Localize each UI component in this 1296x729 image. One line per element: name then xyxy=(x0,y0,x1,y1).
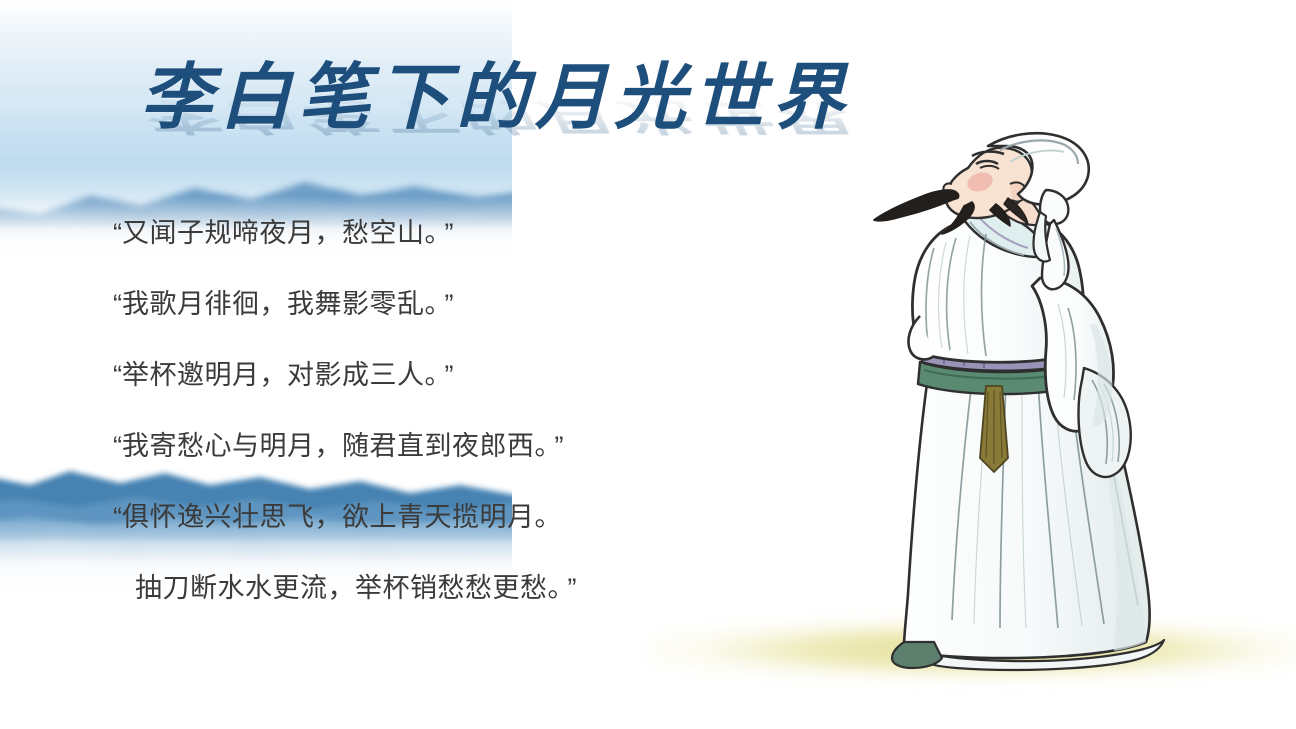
head xyxy=(874,148,1032,234)
quote-list: “又闻子规啼夜月，愁空山。” “我歌月徘徊，我舞影零乱。” “举杯邀明月，对影成… xyxy=(113,198,733,624)
quote-line: “我寄愁心与明月，随君直到夜郎西。” xyxy=(113,411,733,482)
quote-open-mark: “ xyxy=(113,431,122,461)
quote-open-mark: “ xyxy=(113,360,122,390)
quote-line: “俱怀逸兴壮思飞，欲上青天揽明月。 xyxy=(113,482,733,553)
quote-text: 我寄愁心与明月，随君直到夜郎西。 xyxy=(122,431,549,461)
quote-close-mark: ” xyxy=(445,360,454,390)
quote-text: 又闻子规啼夜月，愁空山。 xyxy=(122,218,439,248)
quote-text: 抽刀断水水更流，举杯销愁愁更愁。 xyxy=(135,573,562,603)
quote-text: 俱怀逸兴壮思飞，欲上青天揽明月。 xyxy=(122,502,562,532)
quote-line: “又闻子规啼夜月，愁空山。” xyxy=(113,198,733,269)
quote-open-mark: “ xyxy=(113,502,122,532)
page-title: 李白笔下的月光世界 xyxy=(140,52,900,144)
shoe xyxy=(892,642,942,668)
quote-text: 我歌月徘徊，我舞影零乱。 xyxy=(122,289,439,319)
li-bai-illustration xyxy=(860,128,1240,673)
quote-close-mark: ” xyxy=(555,431,564,461)
slide: 李白笔下的月光世界 李白笔下的月光世界 “又闻子规啼夜月，愁空山。” “我歌月徘… xyxy=(0,0,1296,729)
quote-text: 举杯邀明月，对影成三人。 xyxy=(122,360,439,390)
quote-open-mark: “ xyxy=(113,289,122,319)
quote-close-mark: ” xyxy=(445,218,454,248)
quote-open-mark: “ xyxy=(113,218,122,248)
quote-close-mark: ” xyxy=(568,573,577,603)
quote-line: “我歌月徘徊，我舞影零乱。” xyxy=(113,269,733,340)
title-block: 李白笔下的月光世界 李白笔下的月光世界 xyxy=(140,52,900,182)
quote-line: 抽刀断水水更流，举杯销愁愁更愁。” xyxy=(113,553,733,624)
quote-close-mark: ” xyxy=(445,289,454,319)
quote-line: “举杯邀明月，对影成三人。” xyxy=(113,340,733,411)
